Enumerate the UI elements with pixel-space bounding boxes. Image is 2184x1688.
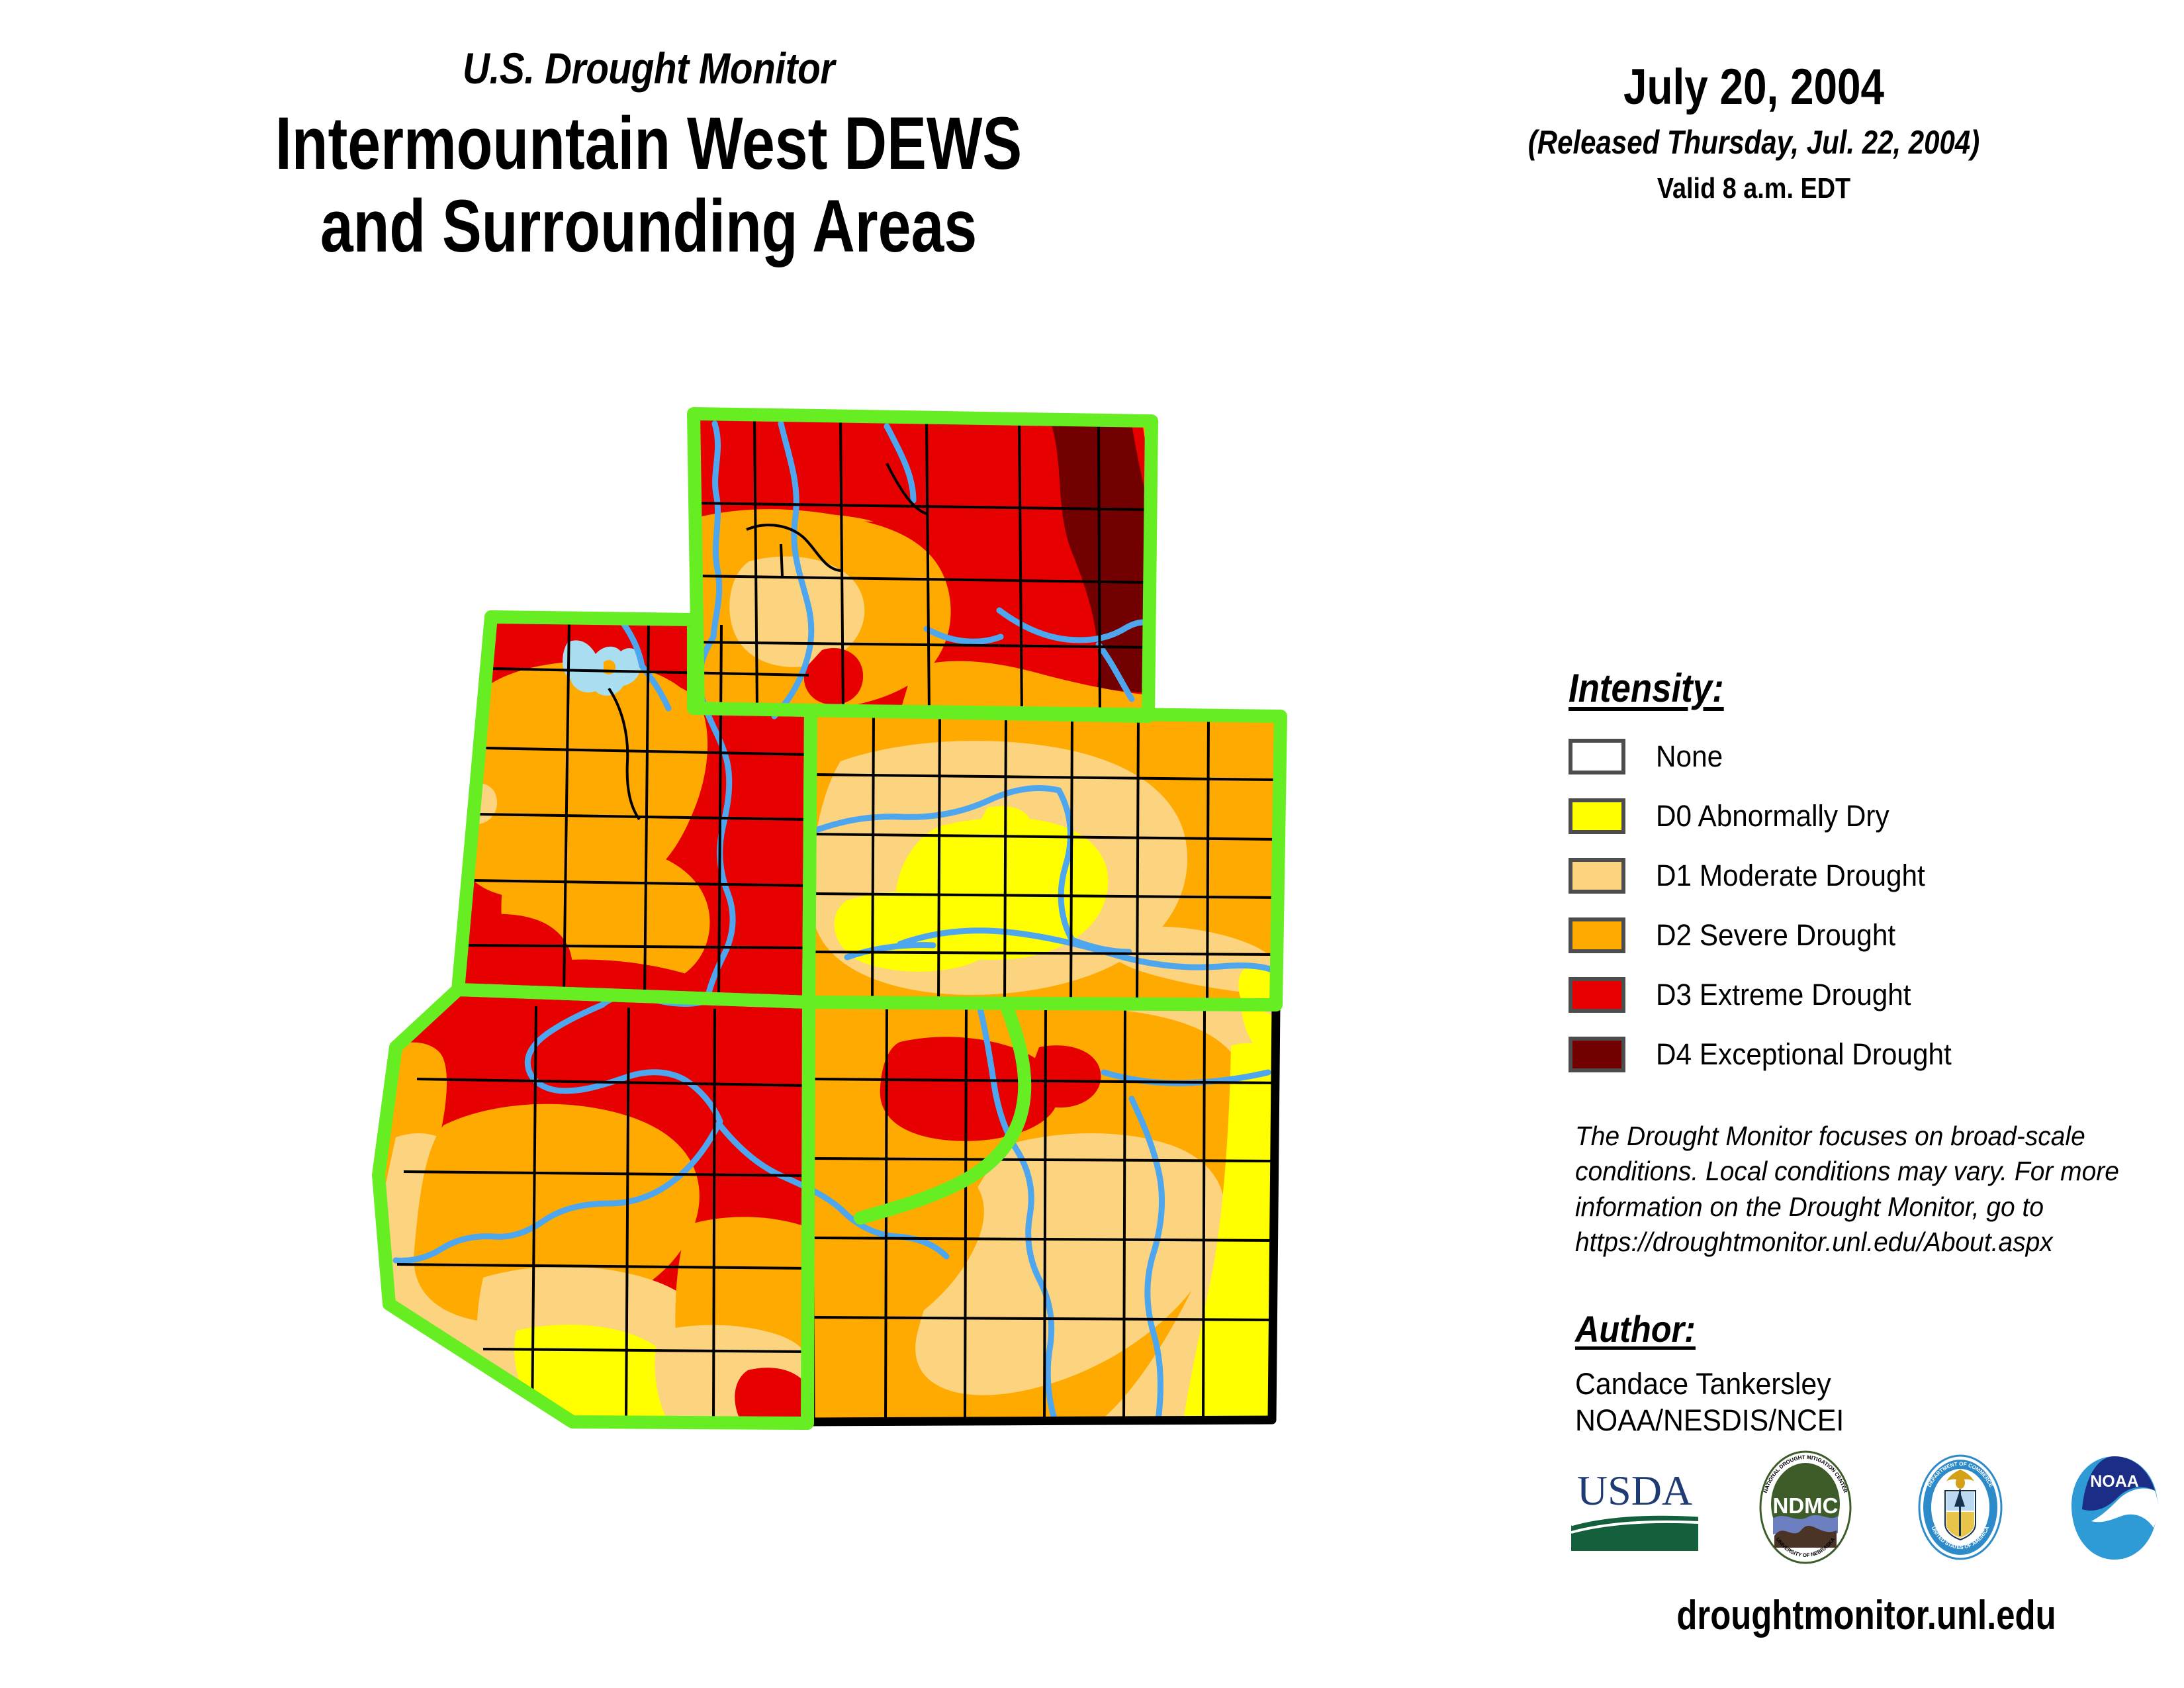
drought-monitor-eyebrow: U.S. Drought Monitor [91,46,1206,90]
drought-map[interactable] [318,377,1324,1562]
legend-label-d0: D0 Abnormally Dry [1656,799,1889,833]
legend-swatch-d3 [1569,977,1625,1013]
legend-item-d2[interactable]: D2 Severe Drought [1569,911,2164,960]
usda-wordmark: USDA [1577,1467,1692,1514]
legend-item-none[interactable]: None [1569,732,2164,781]
noaa-wordmark: NOAA [2090,1472,2139,1491]
legend-item-d0[interactable]: D0 Abnormally Dry [1569,792,2164,841]
valid-time: Valid 8 a.m. EDT [1480,173,2027,205]
ndmc-logo[interactable]: NDMC NATIONAL DROUGHT MITIGATION CENTER … [1756,1450,1855,1569]
agency-logos: USDA NDMC NATIONAL DROUGHT MITIGATION CE… [1569,1446,2164,1572]
legend-item-d1[interactable]: D1 Moderate Drought [1569,851,2164,900]
release-date: (Released Thursday, Jul. 22, 2004) [1487,124,2021,161]
legend-swatch-d0 [1569,798,1625,834]
legend-label-d4: D4 Exceptional Drought [1656,1037,1952,1072]
legend-label-d2: D2 Severe Drought [1656,918,1895,953]
legend-heading: Intensity: [1569,665,1724,711]
title-block: U.S. Drought Monitor Intermountain West … [0,46,1297,268]
author-name: Candace Tankersley [1575,1366,2128,1403]
legend: Intensity: None D0 Abnormally Dry D1 Mod… [1569,665,2164,1090]
page-title-line-1: Intermountain West DEWS [130,102,1167,185]
date-block: July 20, 2004 (Released Thursday, Jul. 2… [1436,61,2071,205]
page-title-line-2: and Surrounding Areas [130,185,1167,267]
legend-swatch-d4 [1569,1037,1625,1072]
author-block: Author: Candace Tankersley NOAA/NESDIS/N… [1575,1307,2158,1439]
legend-label-d1: D1 Moderate Drought [1656,859,1925,893]
state-arizona [374,983,814,1433]
author-heading: Author: [1575,1307,1696,1350]
legend-swatch-none [1569,739,1625,774]
footer-url[interactable]: droughtmonitor.unl.edu [1622,1592,2111,1639]
legend-item-d3[interactable]: D3 Extreme Drought [1569,970,2164,1019]
legend-label-none: None [1656,739,1723,774]
disclaimer-text: The Drought Monitor focuses on broad-sca… [1575,1119,2128,1260]
legend-item-d4[interactable]: D4 Exceptional Drought [1569,1030,2164,1079]
department-of-commerce-seal[interactable]: DEPARTMENT OF COMMERCE UNITED STATES OF … [1911,1450,2010,1569]
usda-logo[interactable]: USDA [1569,1458,1701,1561]
legend-swatch-d2 [1569,917,1625,953]
legend-swatch-d1 [1569,858,1625,894]
valid-date: July 20, 2004 [1487,61,2021,114]
legend-label-d3: D3 Extreme Drought [1656,978,1911,1012]
ndmc-wordmark: NDMC [1773,1493,1839,1518]
noaa-logo[interactable]: NOAA [2065,1450,2164,1569]
author-affiliation: NOAA/NESDIS/NCEI [1575,1403,2128,1439]
